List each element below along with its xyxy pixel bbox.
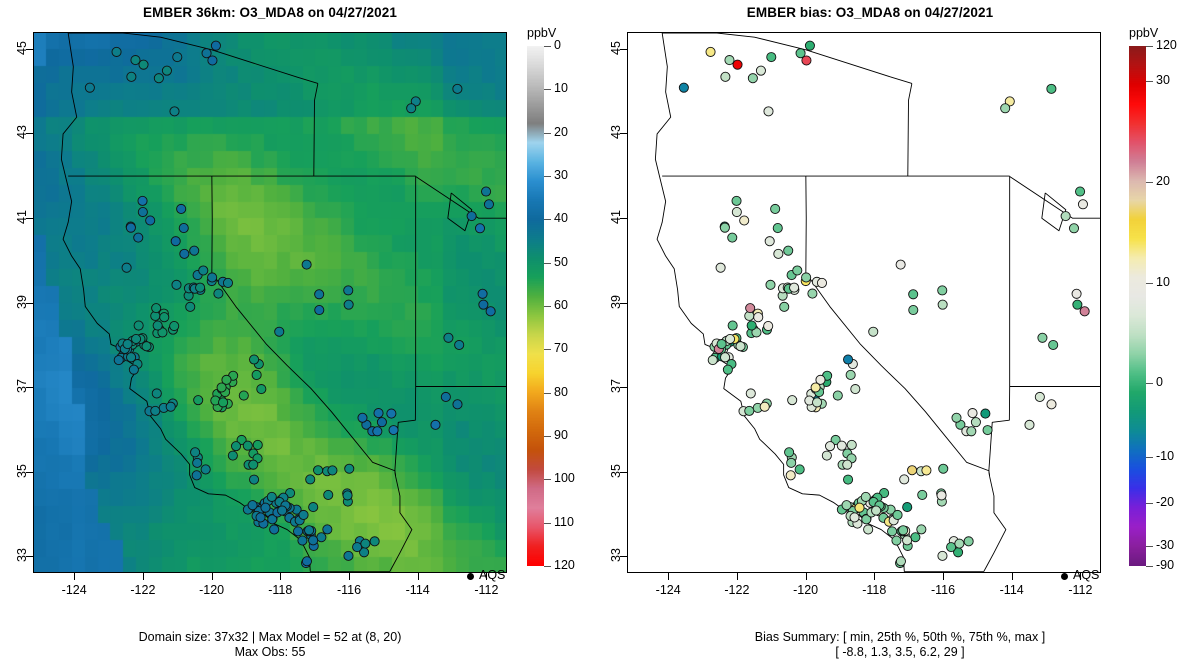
model-plot-area <box>33 32 507 573</box>
page-title-bias: EMBER bias: O3_MDA8 on 04/27/2021 <box>600 5 1140 20</box>
colorbar-tick <box>1146 283 1153 284</box>
y-tick-label: 35 <box>609 451 623 491</box>
y-tick-label: 41 <box>609 197 623 237</box>
y-tick-label: 45 <box>609 28 623 68</box>
colorbar-tick <box>544 479 551 480</box>
x-tick <box>349 573 350 580</box>
colorbar-tick <box>1146 546 1153 547</box>
aqs-legend-dot-bias <box>1061 573 1068 580</box>
colorbar-tick-label: 10 <box>1156 275 1170 289</box>
x-tick <box>143 573 144 580</box>
colorbar-gradient-bias <box>1129 46 1146 566</box>
colorbar-unit-label: ppbV <box>527 26 556 40</box>
model-caption-line2: Max Obs: 55 <box>0 645 540 660</box>
colorbar-tick <box>1146 383 1153 384</box>
colorbar-tick <box>544 393 551 394</box>
colorbar-tick-label: 30 <box>554 168 568 182</box>
colorbar-tick-label: 110 <box>554 515 574 529</box>
x-tick-label: -124 <box>638 583 698 597</box>
colorbar-tick <box>544 46 551 47</box>
colorbar-tick-label: 40 <box>554 211 568 225</box>
y-tick-label: 33 <box>15 535 29 575</box>
colorbar-tick-label: 0 <box>1156 375 1163 389</box>
colorbar-tick-label: 100 <box>554 471 575 485</box>
aqs-legend-label-bias: AQS <box>1073 568 1099 582</box>
colorbar-tick-label: -20 <box>1156 495 1174 509</box>
x-tick-label: -116 <box>913 583 973 597</box>
colorbar-tick <box>544 133 551 134</box>
x-tick-label: -114 <box>982 583 1042 597</box>
x-tick <box>280 573 281 580</box>
x-tick-label: -116 <box>319 583 379 597</box>
colorbar-tick-label: 0 <box>554 38 561 52</box>
x-tick <box>806 573 807 580</box>
x-tick-label: -122 <box>707 583 767 597</box>
x-tick-label: -112 <box>1050 583 1110 597</box>
x-tick-label: -120 <box>776 583 836 597</box>
colorbar-tick <box>1146 182 1153 183</box>
colorbar-tick <box>544 176 551 177</box>
y-tick-label: 37 <box>15 366 29 406</box>
y-tick-label: 41 <box>15 197 29 237</box>
colorbar-tick-label: -10 <box>1156 449 1174 463</box>
colorbar-tick <box>544 523 551 524</box>
colorbar-tick <box>1146 81 1153 82</box>
colorbar-tick <box>544 306 551 307</box>
x-tick-label: -114 <box>388 583 448 597</box>
bias-caption-line2: [ -8.8, 1.3, 3.5, 6.2, 29 ] <box>630 645 1170 660</box>
x-tick-label: -120 <box>182 583 242 597</box>
colorbar-tick <box>544 219 551 220</box>
colorbar-tick <box>1146 566 1153 567</box>
colorbar-tick-label: 50 <box>554 255 568 269</box>
x-tick-label: -122 <box>113 583 173 597</box>
colorbar-tick <box>544 89 551 90</box>
colorbar-tick <box>1146 503 1153 504</box>
y-tick-label: 45 <box>15 28 29 68</box>
colorbar-tick-label: -30 <box>1156 538 1174 552</box>
aqs-observation-markers <box>34 33 506 572</box>
colorbar-unit-label-bias: ppbV <box>1129 26 1158 40</box>
x-tick-label: -118 <box>250 583 310 597</box>
aqs-bias-markers <box>628 33 1100 572</box>
panel-bias-field: EMBER bias: O3_MDA8 on 04/27/2021 -124-1… <box>600 0 1200 672</box>
x-tick-label: -124 <box>44 583 104 597</box>
x-tick <box>1012 573 1013 580</box>
x-tick-label: -112 <box>456 583 516 597</box>
colorbar-tick <box>544 436 551 437</box>
bias-plot-area <box>627 32 1101 573</box>
model-caption-line1: Domain size: 37x32 | Max Model = 52 at (… <box>0 630 540 645</box>
colorbar-tick <box>1146 457 1153 458</box>
colorbar-tick-label: 120 <box>554 558 575 572</box>
colorbar-tick <box>544 349 551 350</box>
colorbar-tick-label: 20 <box>1156 174 1170 188</box>
colorbar-tick <box>1146 46 1153 47</box>
page-title: EMBER 36km: O3_MDA8 on 04/27/2021 <box>0 5 540 20</box>
colorbar-tick-label: 10 <box>554 81 568 95</box>
y-tick-label: 35 <box>15 451 29 491</box>
panel-model-field: EMBER 36km: O3_MDA8 on 04/27/2021 -124-1… <box>0 0 600 672</box>
y-tick-label: 39 <box>609 282 623 322</box>
x-tick <box>418 573 419 580</box>
bias-caption-line1: Bias Summary: [ min, 25th %, 50th %, 75t… <box>630 630 1170 645</box>
x-tick <box>874 573 875 580</box>
colorbar-tick-label: 80 <box>554 385 568 399</box>
x-tick <box>668 573 669 580</box>
x-tick <box>737 573 738 580</box>
x-tick <box>74 573 75 580</box>
y-tick-label: 43 <box>15 112 29 152</box>
y-tick-label: 33 <box>609 535 623 575</box>
y-tick-label: 39 <box>15 282 29 322</box>
x-tick-label: -118 <box>844 583 904 597</box>
aqs-legend-dot <box>467 573 474 580</box>
colorbar-tick-label: 60 <box>554 298 568 312</box>
x-tick <box>212 573 213 580</box>
colorbar-tick <box>544 566 551 567</box>
colorbar-gradient <box>527 46 544 566</box>
colorbar-tick-label: 70 <box>554 341 568 355</box>
colorbar-tick <box>544 263 551 264</box>
colorbar-tick-label: -90 <box>1156 558 1174 572</box>
colorbar-tick-label: 90 <box>554 428 568 442</box>
colorbar-tick-label: 120 <box>1156 38 1177 52</box>
x-tick <box>943 573 944 580</box>
y-tick-label: 43 <box>609 112 623 152</box>
colorbar-tick-label: 20 <box>554 125 568 139</box>
y-tick-label: 37 <box>609 366 623 406</box>
aqs-legend-label: AQS <box>479 568 505 582</box>
colorbar-tick-label: 30 <box>1156 73 1170 87</box>
